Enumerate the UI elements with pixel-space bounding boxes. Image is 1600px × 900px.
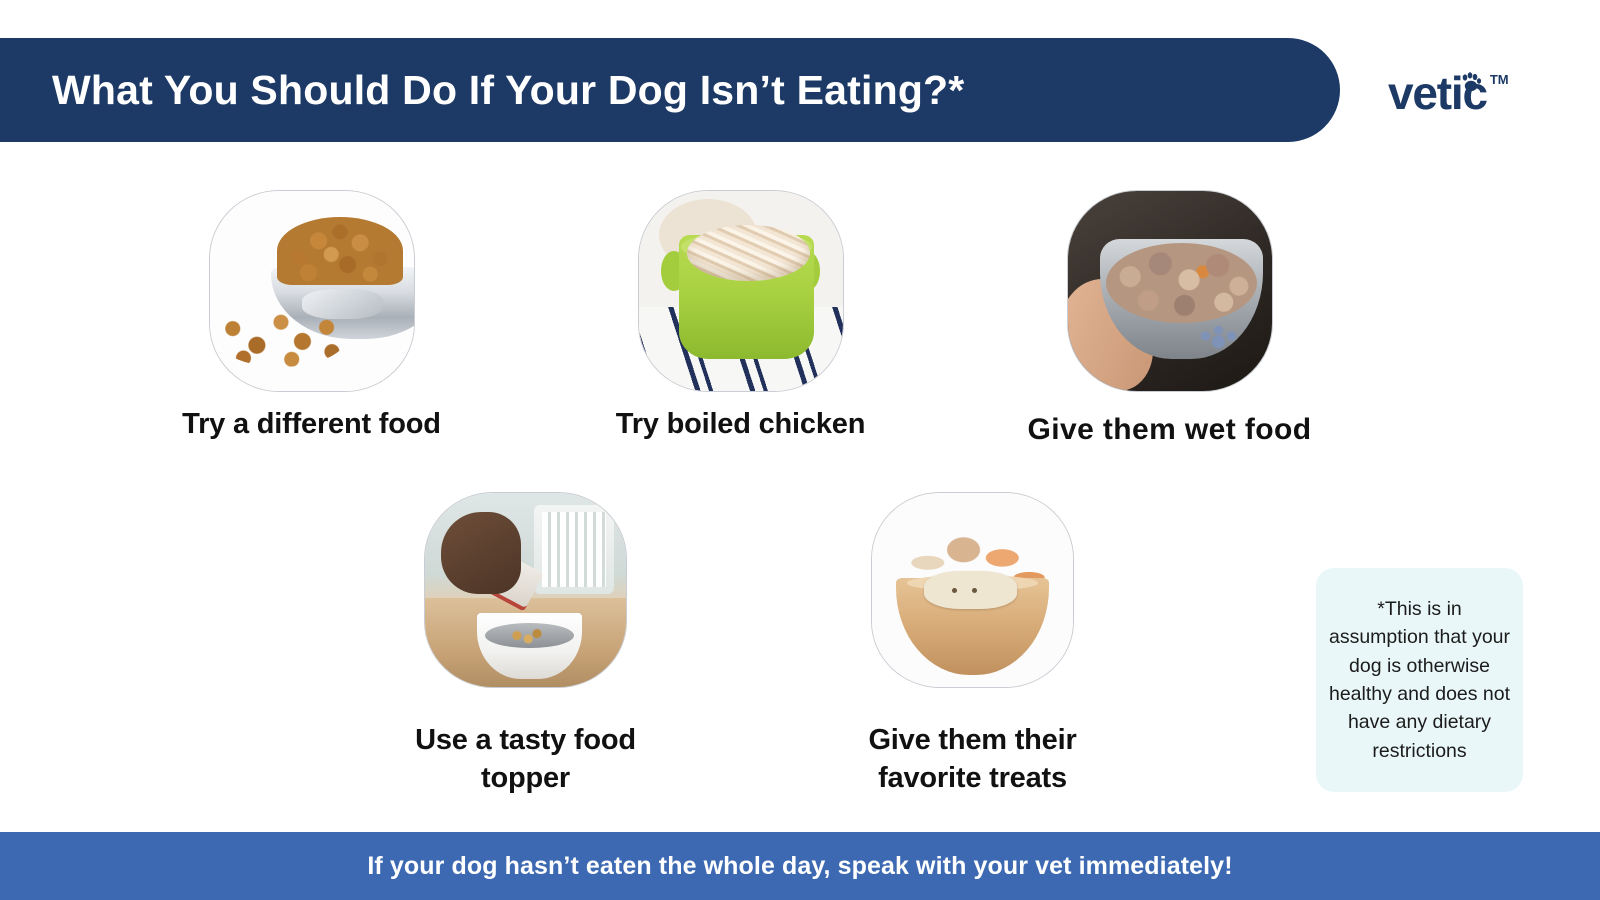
infographic-canvas: What You Should Do If Your Dog Isn’t Eat…	[0, 0, 1600, 900]
tip-image-dry-food	[209, 190, 415, 392]
tip-card-food-topper: Use a tasty food topper	[373, 492, 678, 797]
header-banner: What You Should Do If Your Dog Isn’t Eat…	[0, 38, 1340, 142]
tip-image-dog-treats	[871, 492, 1074, 688]
tip-image-boiled-chicken	[638, 190, 844, 392]
footnote-text: *This is in assumption that your dog is …	[1326, 595, 1513, 765]
tip-label: Try a different food	[182, 406, 441, 444]
trademark-symbol: TM	[1490, 72, 1509, 87]
tip-card-favorite-treats: Give them their favorite treats	[820, 492, 1125, 797]
page-title: What You Should Do If Your Dog Isn’t Eat…	[0, 67, 964, 114]
tip-card-wet-food: Give them wet food	[1012, 190, 1327, 449]
tip-label: Give them their favorite treats	[820, 722, 1125, 797]
logo-wordmark: vetic	[1388, 70, 1487, 116]
vetic-logo[interactable]: vetic TM	[1388, 70, 1509, 116]
tip-card-boiled-chicken: Try boiled chicken	[583, 190, 898, 444]
footnote-box: *This is in assumption that your dog is …	[1316, 568, 1523, 792]
tip-label: Try boiled chicken	[616, 406, 865, 444]
footer-text: If your dog hasn’t eaten the whole day, …	[367, 852, 1232, 881]
tip-card-try-different-food: Try a different food	[154, 190, 469, 444]
tip-label: Use a tasty food topper	[373, 722, 678, 797]
tip-label: Give them wet food	[1028, 410, 1312, 449]
tip-image-wet-food	[1067, 190, 1273, 392]
footer-banner: If your dog hasn’t eaten the whole day, …	[0, 832, 1600, 900]
tip-image-food-topper	[424, 492, 627, 688]
paw-print-icon	[1460, 53, 1482, 73]
